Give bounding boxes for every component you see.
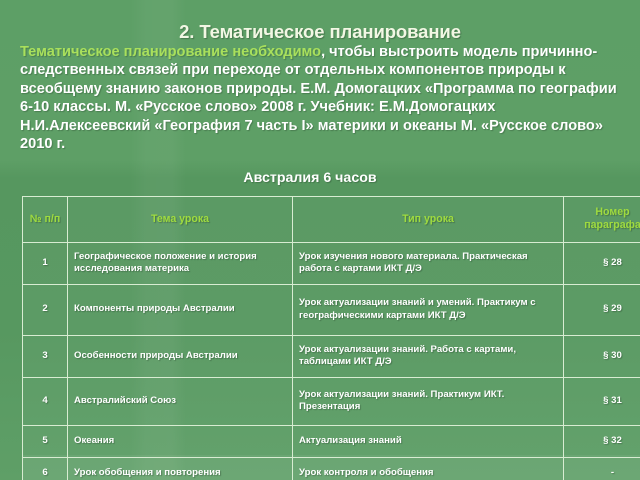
body-highlight-phrase: Тематическое планирование необходимо (20, 44, 321, 60)
table-row: 1 Географическое положение и история исс… (23, 243, 640, 285)
table-caption: Австралия 6 часов (0, 170, 620, 186)
cell-type: Актуализация знаний (293, 426, 564, 458)
cell-theme: Австралийский Союз (68, 378, 293, 426)
cell-theme: Океания (68, 426, 293, 458)
cell-paragraph: § 32 (564, 426, 640, 458)
cell-type: Урок актуализации знаний. Работа с карта… (293, 336, 564, 378)
cell-number: 4 (23, 378, 68, 426)
cell-paragraph: § 30 (564, 336, 640, 378)
body-rest-text: , чтобы выстроить модель причинно-следст… (20, 44, 617, 152)
cell-type: Урок изучения нового материала. Практиче… (293, 243, 564, 285)
cell-type: Урок актуализации знаний и умений. Практ… (293, 285, 564, 336)
table-row: 6 Урок обобщения и повторения Урок контр… (23, 458, 640, 480)
table-row: 2 Компоненты природы Австралии Урок акту… (23, 285, 640, 336)
cell-theme: Компоненты природы Австралии (68, 285, 293, 336)
table-head: № п/п Тема урока Тип урока Номер парагра… (23, 197, 640, 243)
thematic-planning-table-container: № п/п Тема урока Тип урока Номер парагра… (22, 196, 617, 480)
slide-title: 2. Тематическое планирование (0, 21, 640, 43)
table-header-row: № п/п Тема урока Тип урока Номер парагра… (23, 197, 640, 243)
cell-theme: Географическое положение и история иссле… (68, 243, 293, 285)
cell-number: 5 (23, 426, 68, 458)
cell-theme: Особенности природы Австралии (68, 336, 293, 378)
column-header-type: Тип урока (293, 197, 564, 243)
table-row: 3 Особенности природы Австралии Урок акт… (23, 336, 640, 378)
cell-number: 1 (23, 243, 68, 285)
table-row: 5 Океания Актуализация знаний § 32 (23, 426, 640, 458)
cell-type: Урок контроля и обобщения (293, 458, 564, 480)
cell-number: 3 (23, 336, 68, 378)
cell-type: Урок актуализации знаний. Практикум ИКТ.… (293, 378, 564, 426)
column-header-number: № п/п (23, 197, 68, 243)
cell-paragraph: § 28 (564, 243, 640, 285)
cell-paragraph: § 31 (564, 378, 640, 426)
table-body: 1 Географическое положение и история исс… (23, 243, 640, 480)
column-header-theme: Тема урока (68, 197, 293, 243)
thematic-planning-table: № п/п Тема урока Тип урока Номер парагра… (22, 196, 640, 480)
cell-number: 6 (23, 458, 68, 480)
cell-paragraph: § 29 (564, 285, 640, 336)
column-header-paragraph: Номер параграфа (564, 197, 640, 243)
cell-paragraph: - (564, 458, 640, 480)
cell-number: 2 (23, 285, 68, 336)
slide-canvas: 2. Тематическое планирование Тематическо… (0, 0, 640, 480)
slide-body-paragraph: Тематическое планирование необходимо, чт… (20, 43, 620, 153)
table-row: 4 Австралийский Союз Урок актуализации з… (23, 378, 640, 426)
cell-theme: Урок обобщения и повторения (68, 458, 293, 480)
